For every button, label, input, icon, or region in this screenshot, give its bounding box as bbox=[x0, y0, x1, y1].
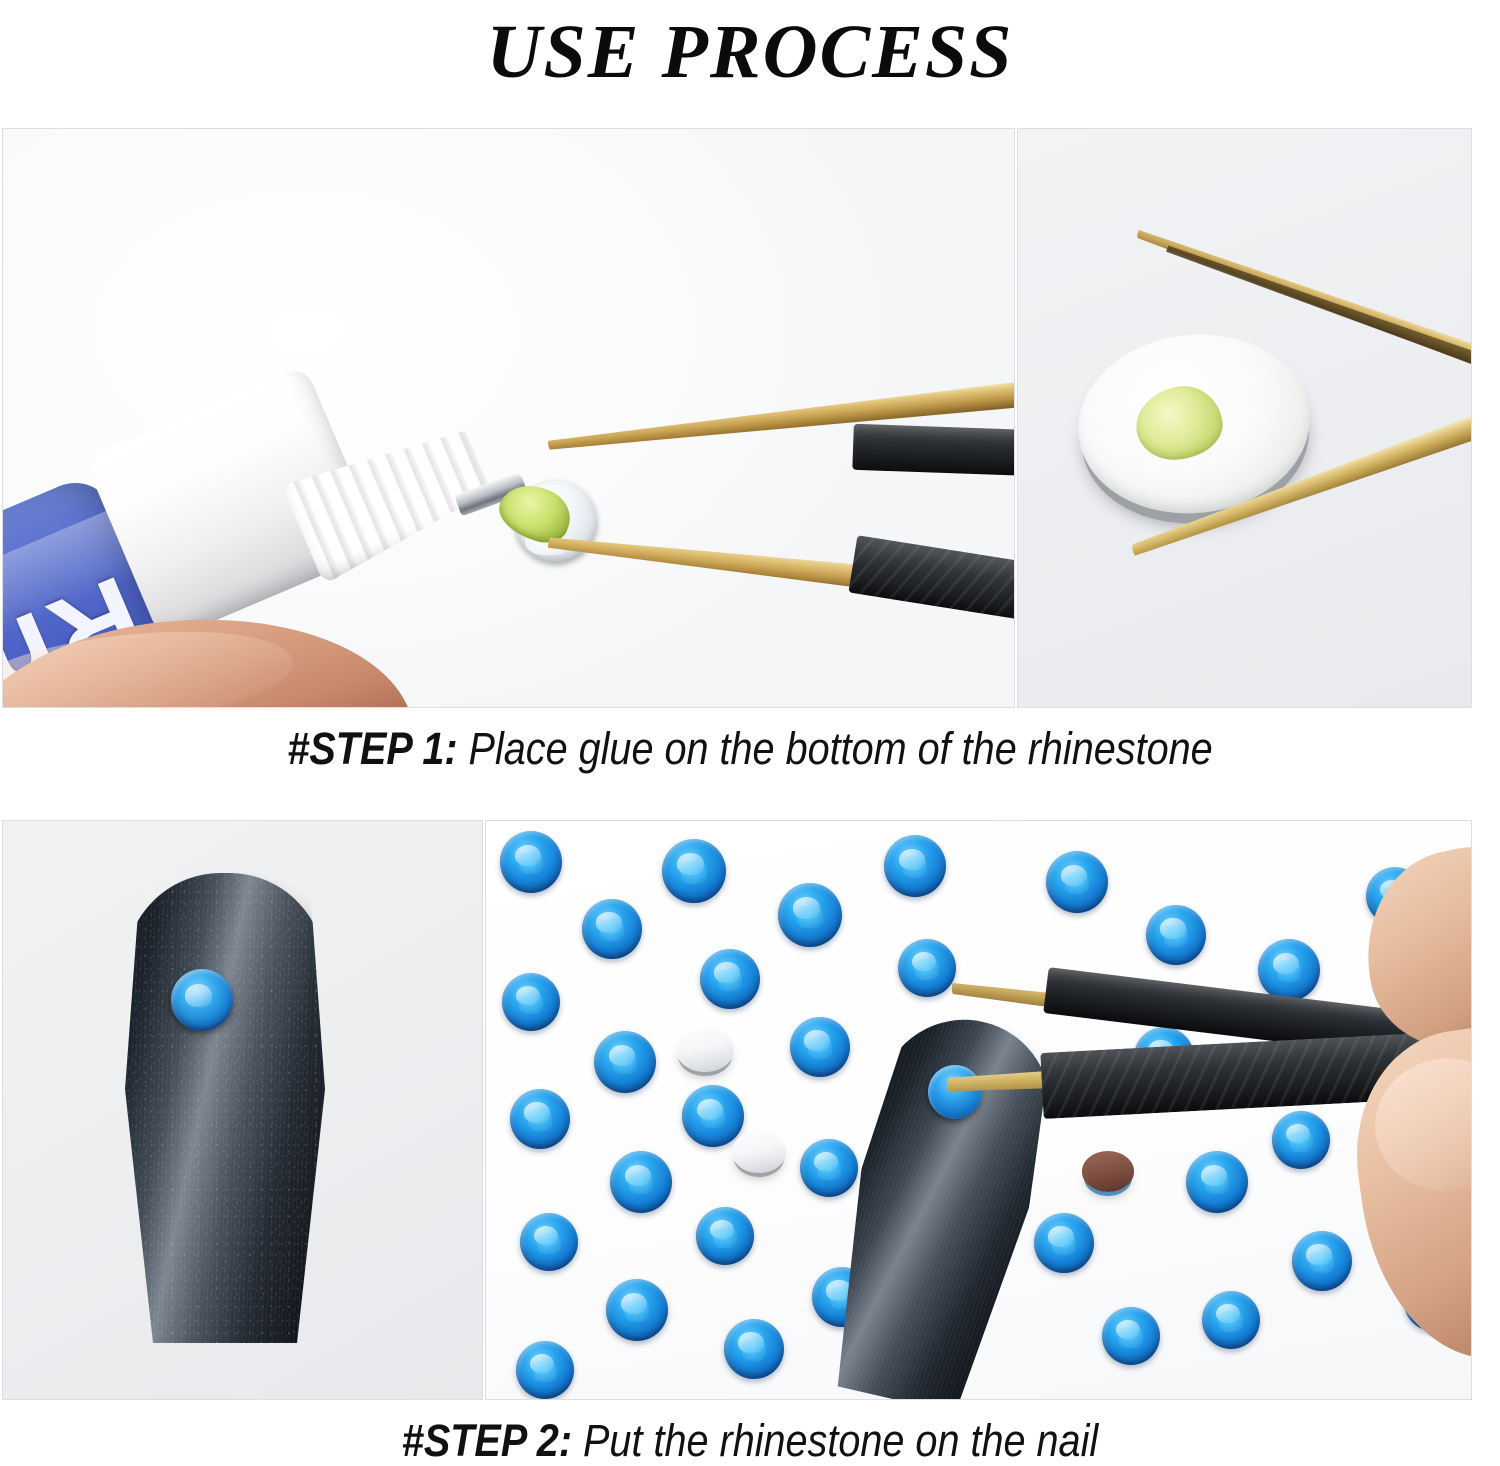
scattered-rhinestone bbox=[1258, 939, 1320, 1001]
scattered-rhinestone bbox=[800, 1139, 858, 1197]
scattered-rhinestone bbox=[1272, 1111, 1330, 1169]
scattered-rhinestone bbox=[1046, 851, 1108, 913]
scattered-rhinestone bbox=[1186, 1151, 1248, 1213]
scattered-rhinestone bbox=[516, 1341, 574, 1399]
step-2-label: #STEP 2: bbox=[402, 1415, 572, 1466]
finished-nail-with-rhinestone-photo bbox=[2, 820, 483, 1400]
scattered-rhinestone bbox=[582, 899, 642, 959]
scattered-rhinestone bbox=[696, 1207, 754, 1265]
step-1-photo-row: Rh G bbox=[2, 128, 1472, 708]
rhinestone-flat-back bbox=[676, 1027, 734, 1072]
scattered-rhinestone bbox=[724, 1319, 784, 1379]
step-2-caption: #STEP 2: Put the rhinestone on the nail bbox=[90, 1415, 1410, 1466]
scattered-rhinestone bbox=[1102, 1307, 1160, 1365]
scattered-rhinestone bbox=[1034, 1213, 1094, 1273]
scattered-rhinestone bbox=[520, 1213, 578, 1271]
scattered-rhinestone bbox=[500, 831, 562, 893]
glue-drop-on-rhinestone-closeup-photo bbox=[1017, 128, 1472, 708]
scattered-rhinestone bbox=[778, 883, 842, 947]
page-title: USE PROCESS bbox=[0, 0, 1500, 110]
scattered-rhinestone bbox=[1146, 905, 1206, 965]
dark-shimmer-nail-tip bbox=[125, 873, 325, 1343]
scattered-rhinestone bbox=[510, 1089, 570, 1149]
scattered-rhinestone bbox=[1202, 1291, 1260, 1349]
scattered-rhinestone bbox=[610, 1151, 672, 1213]
scattered-rhinestone bbox=[682, 1085, 744, 1147]
rhinestone-flat-back bbox=[1082, 1151, 1134, 1192]
step-1-label: #STEP 1: bbox=[287, 723, 457, 774]
scattered-rhinestone bbox=[790, 1017, 850, 1077]
scattered-rhinestone bbox=[884, 835, 946, 897]
scattered-rhinestone bbox=[1292, 1231, 1352, 1291]
step-2-text: Put the rhinestone on the nail bbox=[572, 1415, 1098, 1466]
placing-rhinestone-on-nail-photo bbox=[485, 820, 1472, 1400]
step-1-caption: #STEP 1: Place glue on the bottom of the… bbox=[90, 723, 1410, 775]
scattered-rhinestone bbox=[594, 1031, 656, 1093]
rhinestone-flat-back bbox=[732, 1131, 786, 1173]
scattered-rhinestone bbox=[606, 1279, 668, 1341]
glue-applied-to-rhinestone-photo: Rh G bbox=[2, 128, 1015, 708]
product-instruction-image: USE PROCESS Rh G bbox=[0, 0, 1500, 1466]
scattered-rhinestone bbox=[700, 949, 760, 1009]
blue-rhinestone-on-nail bbox=[171, 969, 233, 1031]
scattered-rhinestone bbox=[662, 839, 726, 903]
scattered-rhinestone bbox=[502, 973, 560, 1031]
step-1-text: Place glue on the bottom of the rhinesto… bbox=[458, 723, 1213, 774]
step-2-photo-row bbox=[2, 820, 1472, 1400]
scattered-rhinestone bbox=[898, 939, 956, 997]
